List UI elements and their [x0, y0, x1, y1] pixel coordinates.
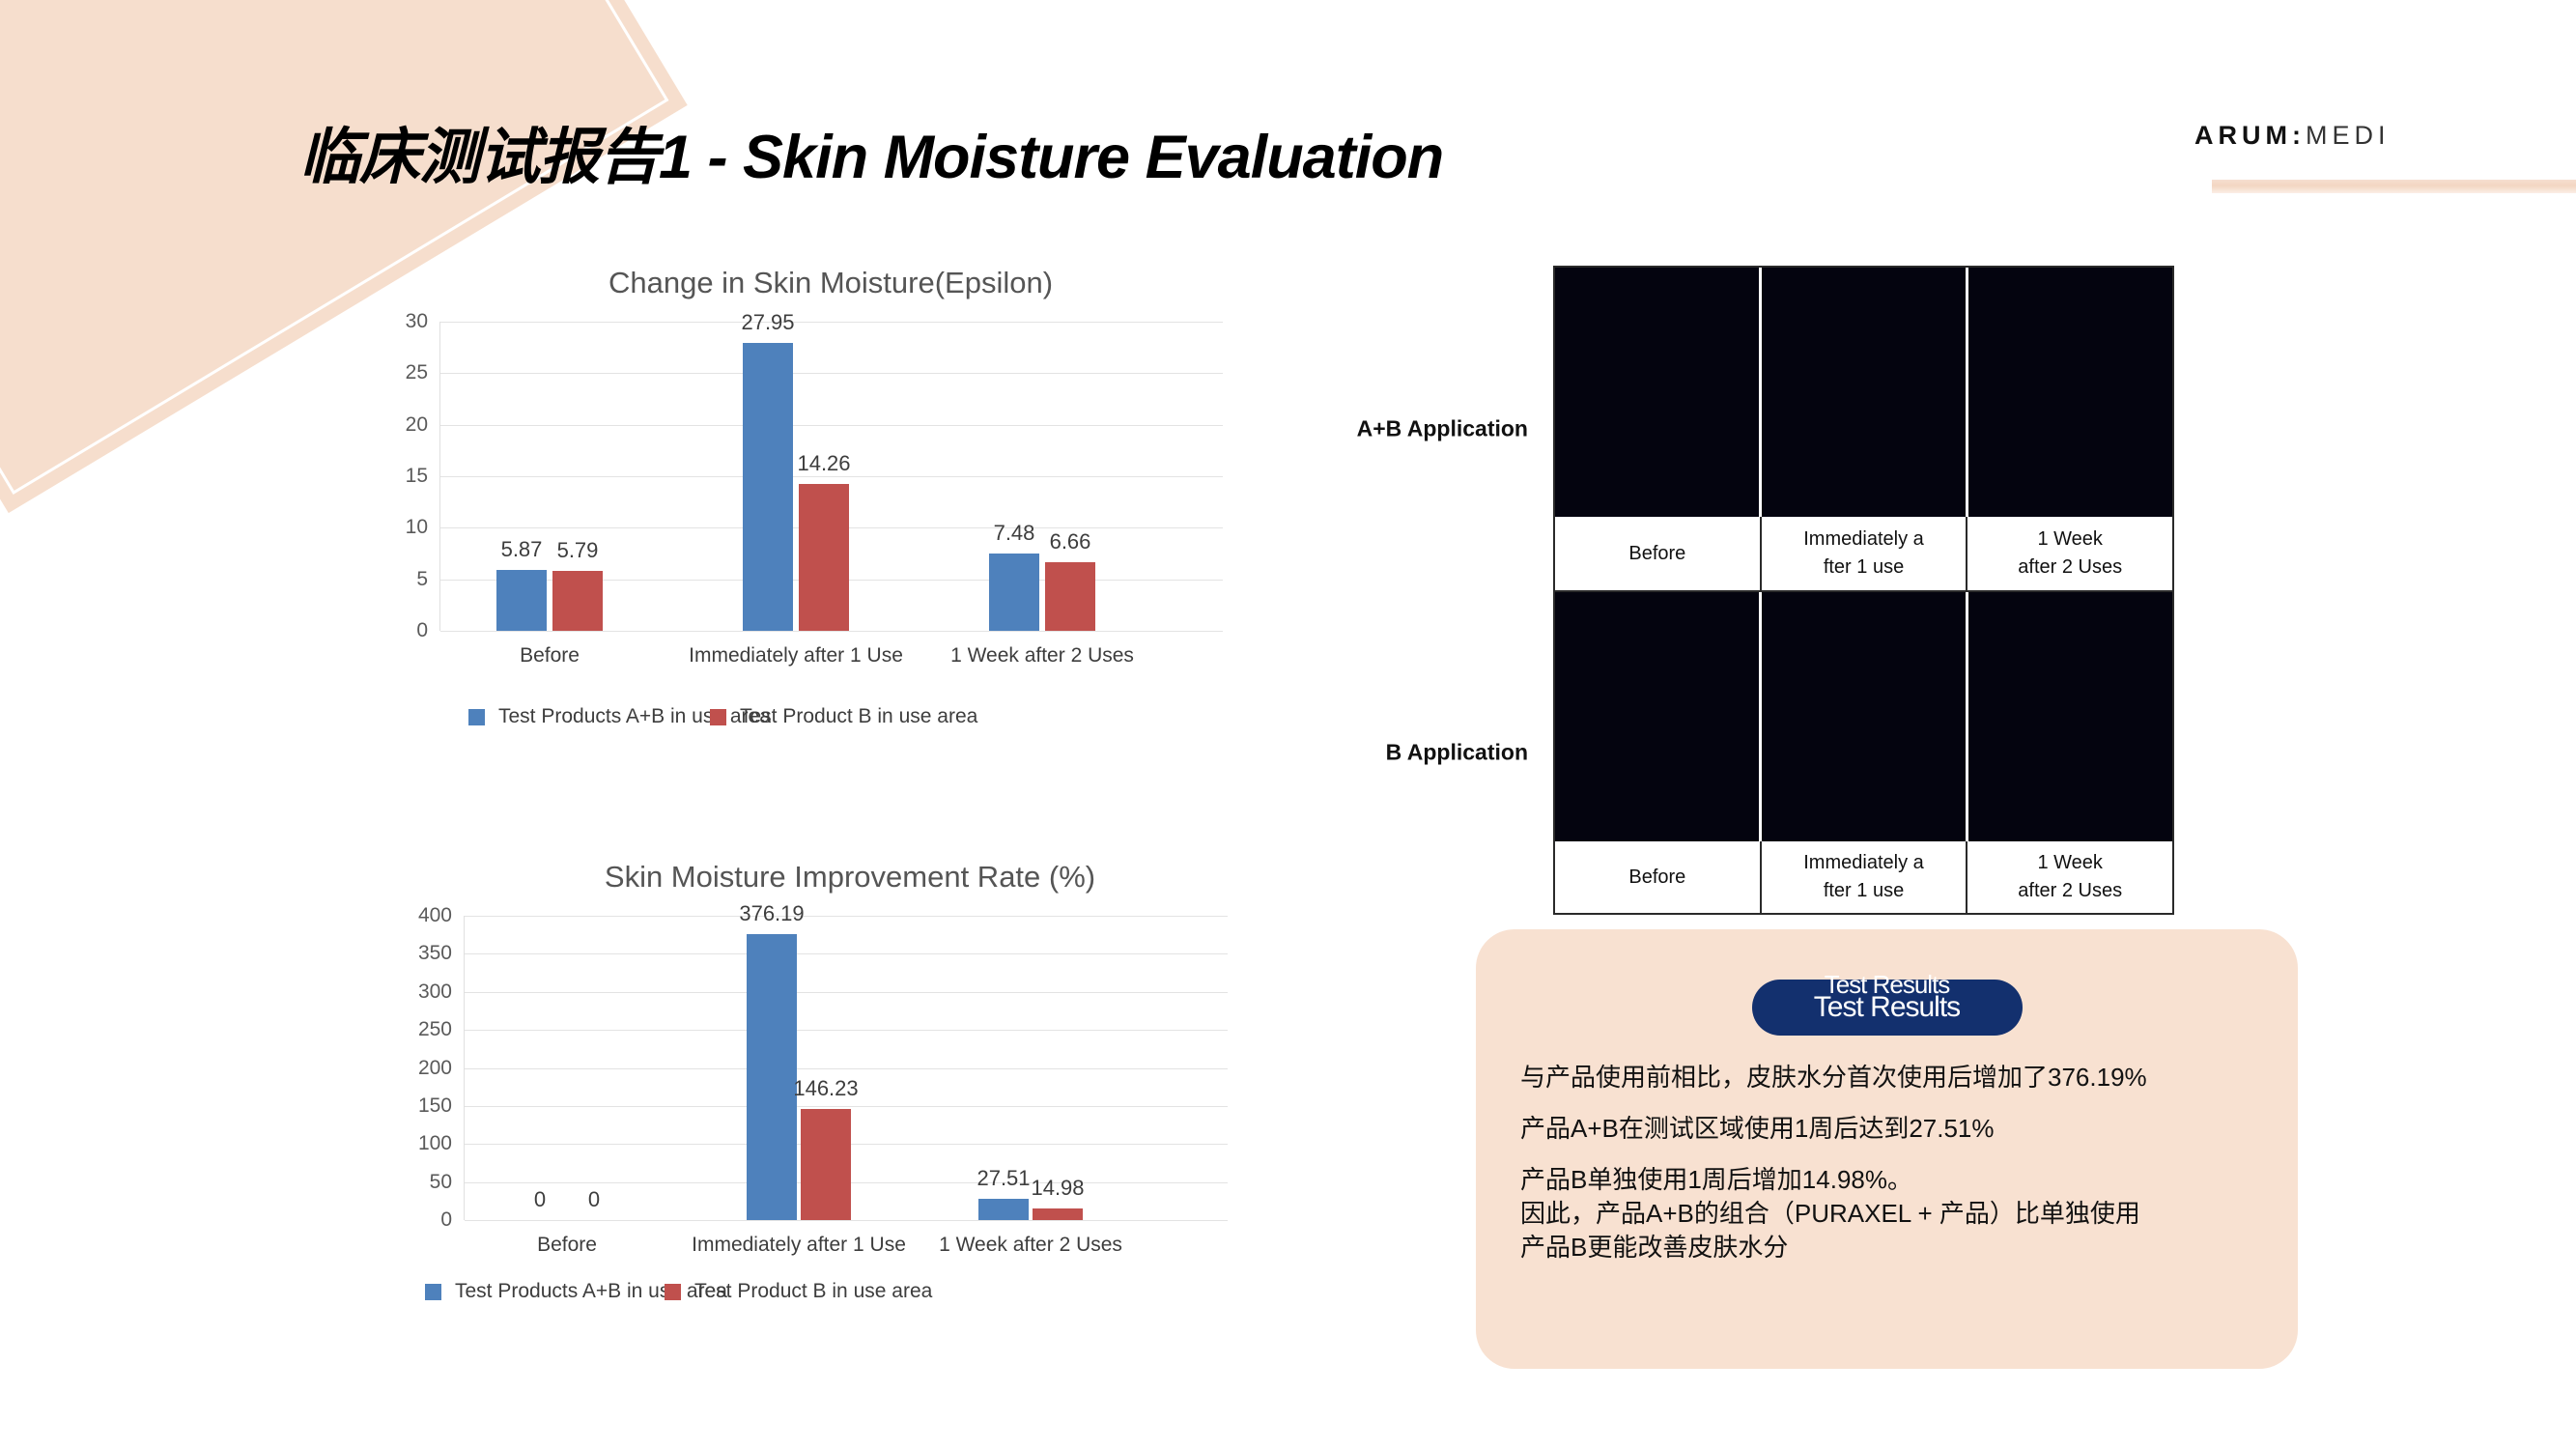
chart-data-label: 6.66: [1050, 529, 1091, 554]
chart-data-label: 14.26: [797, 451, 850, 476]
skin-fluorescence-image: [1966, 592, 2172, 841]
chart-bar: [801, 1109, 851, 1220]
result-text-line: 产品B更能改善皮肤水分: [1520, 1235, 2259, 1260]
chart-gridline: [465, 953, 1228, 954]
chart-bar: [989, 554, 1039, 631]
image-comparison-panel: A+B ApplicationBeforeImmediately after 1…: [1553, 266, 2174, 915]
chart-bar: [496, 570, 547, 631]
result-text-line: 与产品使用前相比，皮肤水分首次使用后增加了376.19%: [1520, 1065, 2259, 1090]
logo-bold-text: ARUM:: [2194, 121, 2306, 150]
chart-bar: [743, 343, 793, 631]
chart-gridline: [440, 476, 1223, 477]
image-caption-line: Before: [1628, 540, 1685, 568]
chart-legend-item: Test Product B in use area: [710, 705, 977, 728]
chart-title: Skin Moisture Improvement Rate (%): [386, 860, 1314, 895]
skin-fluorescence-image: [1759, 268, 1966, 517]
skin-image-strip: [1555, 592, 2172, 841]
chart-legend-item: Test Product B in use area: [665, 1280, 932, 1303]
chart-bar: [978, 1199, 1029, 1220]
image-caption-line: fter 1 use: [1824, 554, 1904, 582]
image-caption: 1 Weekafter 2 Uses: [1966, 517, 2172, 590]
test-result-badge-ghost-label: Test Results: [1825, 970, 1950, 1000]
y-axis-tick-label: 300: [418, 980, 452, 1004]
skin-image-strip: [1555, 268, 2172, 517]
image-row-label: A+B Application: [1357, 416, 1528, 442]
image-caption-strip: BeforeImmediately after 1 use1 Weekafter…: [1555, 517, 2172, 590]
y-axis-tick-label: 20: [406, 413, 428, 437]
result-text-line: 产品A+B在测试区域使用1周后达到27.51%: [1520, 1116, 2259, 1141]
legend-label: Test Product B in use area: [694, 1280, 932, 1303]
header-accent-line: [2212, 180, 2576, 193]
chart-gridline: [440, 631, 1223, 632]
image-caption-line: Immediately a: [1803, 849, 1924, 877]
image-caption-line: after 2 Uses: [2018, 554, 2122, 582]
image-caption-strip: BeforeImmediately after 1 use1 Weekafter…: [1555, 841, 2172, 913]
y-axis-tick-label: 25: [406, 361, 428, 384]
image-caption: 1 Weekafter 2 Uses: [1966, 841, 2172, 913]
chart-data-label: 14.98: [1031, 1176, 1084, 1201]
image-caption: Immediately after 1 use: [1760, 841, 1967, 913]
legend-swatch-icon: [425, 1284, 441, 1300]
y-axis-tick-label: 100: [418, 1132, 452, 1155]
logo-light-text: MEDI: [2306, 121, 2391, 150]
chart-data-label: 0: [534, 1187, 546, 1212]
chart-gridline: [465, 916, 1228, 917]
chart-bar: [747, 934, 797, 1220]
result-text-line: 产品B单独使用1周后增加14.98%。: [1520, 1167, 2259, 1192]
y-axis-tick-label: 150: [418, 1094, 452, 1118]
legend-swatch-icon: [665, 1284, 681, 1300]
y-axis-tick-label: 30: [406, 310, 428, 333]
chart-skin-moisture-improvement-rate: Skin Moisture Improvement Rate (%)400350…: [386, 860, 1314, 1352]
legend-label: Test Product B in use area: [740, 705, 977, 728]
x-axis-category-label: Immediately after 1 Use: [689, 644, 903, 668]
chart-data-label: 376.19: [739, 901, 804, 926]
chart-change-in-skin-moisture: Change in Skin Moisture(Epsilon)30252015…: [367, 266, 1294, 768]
image-caption: Immediately after 1 use: [1760, 517, 1967, 590]
chart-gridline: [440, 373, 1223, 374]
skin-fluorescence-image: [1966, 268, 2172, 517]
y-axis-tick-label: 0: [440, 1208, 452, 1232]
y-axis-tick-label: 350: [418, 942, 452, 965]
chart-gridline: [465, 1106, 1228, 1107]
y-axis-tick-label: 50: [430, 1171, 452, 1194]
chart-plot-area: 3025201510505.875.79Before27.9514.26Imme…: [439, 322, 1223, 631]
x-axis-category-label: Immediately after 1 Use: [692, 1234, 906, 1257]
x-axis-category-label: Before: [537, 1234, 597, 1257]
image-caption-line: 1 Week: [2037, 526, 2102, 554]
y-axis-tick-label: 250: [418, 1018, 452, 1041]
skin-fluorescence-image: [1555, 592, 1759, 841]
chart-bar: [799, 484, 849, 631]
x-axis-category-label: 1 Week after 2 Uses: [950, 644, 1134, 668]
chart-data-label: 0: [588, 1187, 600, 1212]
x-axis-category-label: Before: [520, 644, 580, 668]
chart-gridline: [440, 425, 1223, 426]
image-caption: Before: [1555, 841, 1760, 913]
image-caption-line: Before: [1628, 864, 1685, 892]
image-caption-line: after 2 Uses: [2018, 877, 2122, 905]
y-axis-tick-label: 15: [406, 465, 428, 488]
y-axis-tick-label: 10: [406, 516, 428, 539]
image-row-label: B Application: [1386, 740, 1528, 766]
legend-swatch-icon: [468, 709, 485, 725]
image-caption: Before: [1555, 517, 1760, 590]
legend-swatch-icon: [710, 709, 726, 725]
chart-gridline: [440, 322, 1223, 323]
chart-data-label: 7.48: [994, 521, 1035, 546]
image-caption-line: 1 Week: [2037, 849, 2102, 877]
test-result-panel: Test Results Test Results 与产品使用前相比，皮肤水分首…: [1476, 929, 2298, 1369]
y-axis-tick-label: 0: [416, 619, 428, 642]
chart-gridline: [465, 1220, 1228, 1221]
chart-data-label: 27.95: [741, 310, 794, 335]
skin-fluorescence-image: [1759, 592, 1966, 841]
chart-bar: [1045, 562, 1095, 631]
chart-gridline: [465, 992, 1228, 993]
y-axis-tick-label: 400: [418, 904, 452, 927]
chart-data-label: 146.23: [793, 1076, 858, 1101]
image-caption-line: fter 1 use: [1824, 877, 1904, 905]
image-comparison-row: B ApplicationBeforeImmediately after 1 u…: [1555, 590, 2172, 913]
page-title: 临床测试报告1 - Skin Moisture Evaluation: [299, 108, 1443, 196]
chart-gridline: [465, 1030, 1228, 1031]
image-caption-line: Immediately a: [1803, 526, 1924, 554]
chart-gridline: [465, 1068, 1228, 1069]
chart-title: Change in Skin Moisture(Epsilon): [367, 266, 1294, 300]
chart-data-label: 5.87: [501, 537, 543, 562]
x-axis-category-label: 1 Week after 2 Uses: [939, 1234, 1122, 1257]
chart-plot-area: 40035030025020015010050000Before376.1914…: [464, 916, 1228, 1220]
chart-bar: [552, 571, 603, 631]
skin-fluorescence-image: [1555, 268, 1759, 517]
y-axis-tick-label: 200: [418, 1057, 452, 1080]
y-axis-tick-label: 5: [416, 568, 428, 591]
chart-data-label: 5.79: [557, 538, 599, 563]
chart-bar: [1033, 1208, 1083, 1220]
test-result-text: 与产品使用前相比，皮肤水分首次使用后增加了376.19%产品A+B在测试区域使用…: [1520, 1065, 2259, 1286]
result-text-line: 因此，产品A+B的组合（PURAXEL + 产品）比单独使用: [1520, 1201, 2259, 1226]
brand-logo: ARUM:MEDI: [2194, 121, 2390, 151]
chart-data-label: 27.51: [977, 1166, 1030, 1191]
image-comparison-row: A+B ApplicationBeforeImmediately after 1…: [1555, 268, 2172, 590]
